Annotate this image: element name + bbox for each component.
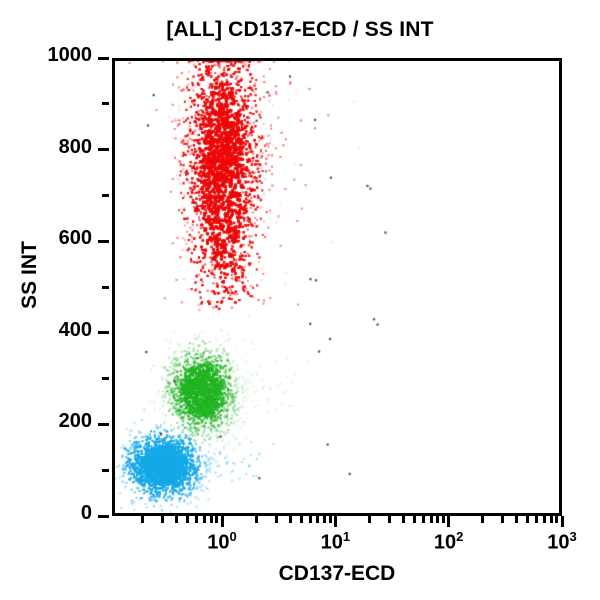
y-tick-label: 200 <box>12 410 92 433</box>
x-tick-label: 103 <box>527 529 597 555</box>
x-tick-label: 102 <box>414 529 484 555</box>
x-tick-minor <box>535 516 538 523</box>
y-tick-label: 600 <box>12 227 92 250</box>
y-tick-minor <box>102 469 109 472</box>
x-tick-minor <box>289 516 292 523</box>
x-tick-minor <box>161 516 164 523</box>
y-tick-major <box>98 423 109 426</box>
y-tick-minor <box>102 377 109 380</box>
plot-area <box>112 58 562 516</box>
x-tick-minor <box>555 516 558 523</box>
x-tick-minor <box>413 516 416 523</box>
chart-title: [ALL] CD137-ECD / SS INT <box>0 18 600 42</box>
x-tick-minor <box>388 516 391 523</box>
x-tick-minor <box>368 516 371 523</box>
x-tick-label: 100 <box>187 529 257 555</box>
x-tick-minor <box>203 516 206 523</box>
x-tick-minor <box>430 516 433 523</box>
x-tick-minor <box>329 516 332 523</box>
x-tick-minor <box>436 516 439 523</box>
x-tick-label: 101 <box>300 529 370 555</box>
x-tick-minor <box>175 516 178 523</box>
scatter-points-layer <box>115 61 559 513</box>
x-tick-minor <box>402 516 405 523</box>
x-tick-minor <box>186 516 189 523</box>
y-tick-minor <box>102 286 109 289</box>
x-axis-label: CD137-ECD <box>112 562 562 586</box>
y-tick-major <box>98 240 109 243</box>
x-tick-minor <box>543 516 546 523</box>
x-tick-minor <box>550 516 553 523</box>
x-tick-minor <box>526 516 529 523</box>
x-tick-major <box>221 516 224 527</box>
x-tick-minor <box>215 516 218 523</box>
y-tick-major <box>98 148 109 151</box>
x-tick-major <box>447 516 450 527</box>
x-tick-minor <box>141 516 144 523</box>
x-tick-minor <box>210 516 213 523</box>
y-tick-minor <box>102 102 109 105</box>
x-tick-minor <box>501 516 504 523</box>
x-tick-minor <box>422 516 425 523</box>
x-tick-minor <box>300 516 303 523</box>
y-tick-major <box>98 57 109 60</box>
x-tick-major <box>561 516 564 527</box>
flow-cytometry-plot: [ALL] CD137-ECD / SS INT SS INT 02004006… <box>0 0 600 600</box>
x-tick-minor <box>309 516 312 523</box>
y-tick-label: 800 <box>12 136 92 159</box>
x-tick-minor <box>275 516 278 523</box>
x-tick-minor <box>515 516 518 523</box>
y-tick-major <box>98 331 109 334</box>
y-tick-minor <box>102 194 109 197</box>
y-tick-label: 1000 <box>12 44 92 67</box>
x-tick-minor <box>195 516 198 523</box>
y-tick-major <box>98 515 109 518</box>
x-tick-minor <box>255 516 258 523</box>
y-tick-label: 400 <box>12 319 92 342</box>
x-tick-minor <box>323 516 326 523</box>
x-tick-minor <box>316 516 319 523</box>
x-tick-minor <box>442 516 445 523</box>
x-tick-minor <box>481 516 484 523</box>
y-tick-label: 0 <box>12 502 92 525</box>
x-tick-major <box>334 516 337 527</box>
